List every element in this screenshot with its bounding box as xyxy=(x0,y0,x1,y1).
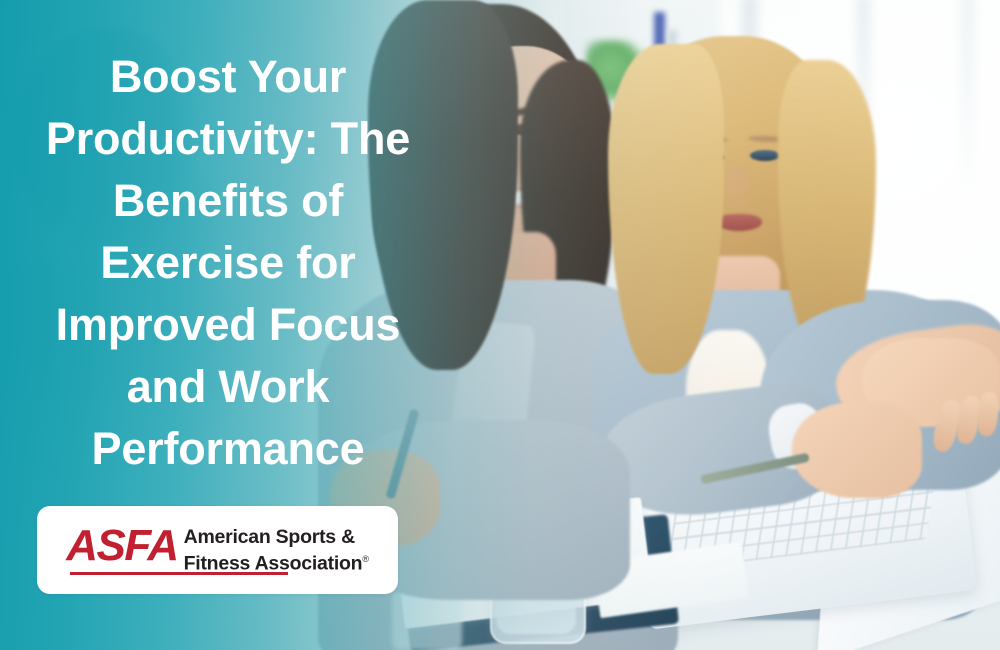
hero-banner: Boost Your Productivity: The Benefits of… xyxy=(0,0,1000,650)
logo-inner: ASFA American Sports & Fitness Associati… xyxy=(66,524,369,575)
asfa-underline xyxy=(70,572,288,575)
title-line-7: Performance xyxy=(0,418,456,480)
asfa-full-name: American Sports & Fitness Association® xyxy=(184,524,369,575)
asfa-name-line-1: American Sports & xyxy=(184,526,369,548)
blonde-nose xyxy=(724,166,750,212)
asfa-mark-wrap: ASFA xyxy=(66,524,177,575)
title-line-2: Productivity: The xyxy=(0,108,456,170)
title-line-4: Exercise for xyxy=(0,232,456,294)
title-line-3: Benefits of xyxy=(0,170,456,232)
blonde-lips xyxy=(716,214,762,231)
window-mullion xyxy=(960,0,975,186)
asfa-name-line-2-wrap: Fitness Association® xyxy=(184,548,369,575)
asfa-logo[interactable]: ASFA American Sports & Fitness Associati… xyxy=(37,506,398,594)
registered-trademark-icon: ® xyxy=(362,554,368,564)
blonde-eye xyxy=(750,150,780,161)
title-line-1: Boost Your xyxy=(0,46,456,108)
page-title: Boost Your Productivity: The Benefits of… xyxy=(0,46,456,480)
asfa-wordmark: ASFA xyxy=(66,524,177,568)
brunette-hand xyxy=(792,402,922,498)
title-line-6: and Work xyxy=(0,356,456,418)
title-line-5: Improved Focus xyxy=(0,294,456,356)
